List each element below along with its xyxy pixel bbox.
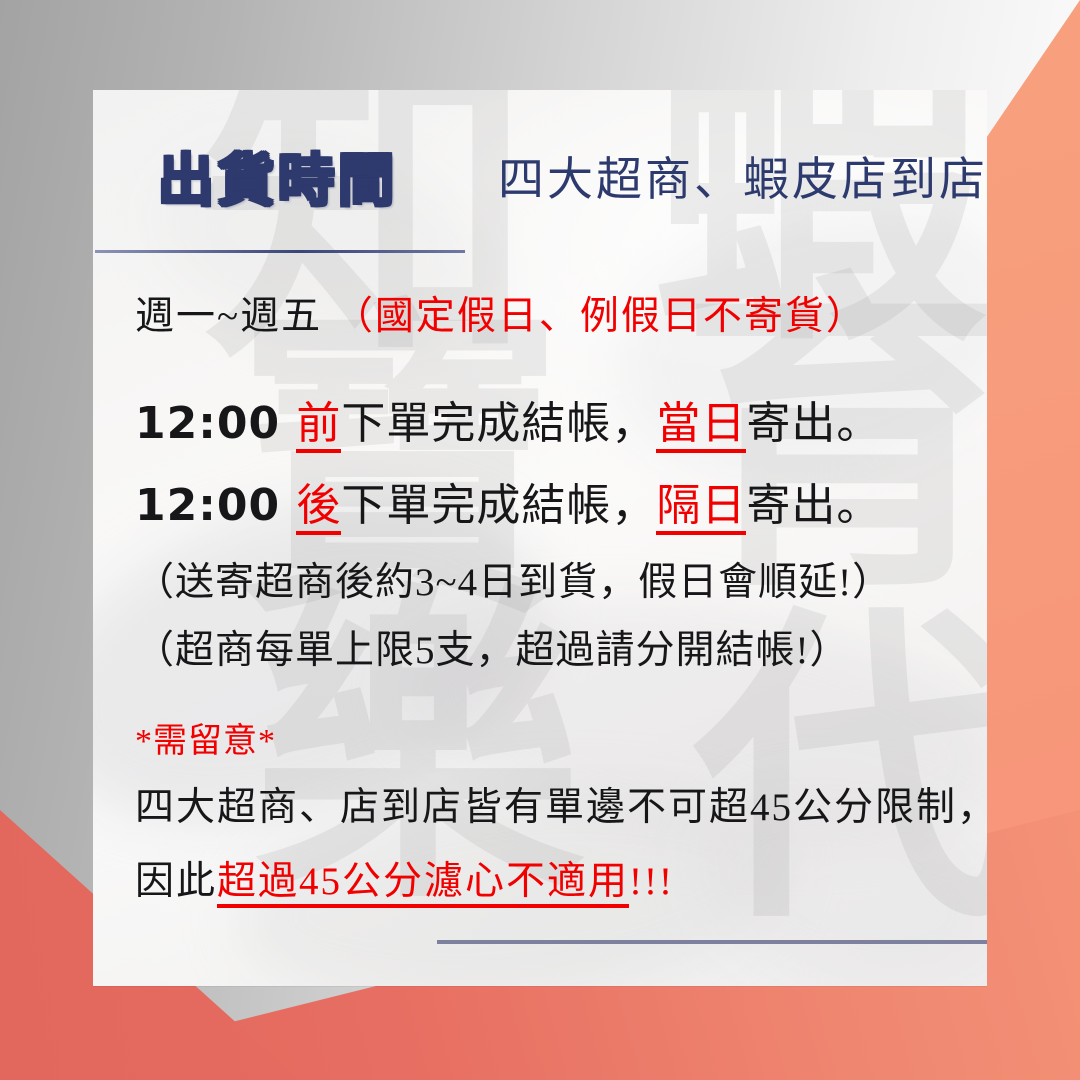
warning-heading: *需留意*	[135, 713, 955, 762]
cutoff-time-1: 12:00	[135, 398, 296, 449]
card-header: 出貨時間 四大超商、蝦皮店到店	[93, 90, 987, 260]
size-exclusion-highlight: 超過45公分濾心不適用	[217, 860, 629, 908]
cutoff-tail-1: 寄出。	[746, 399, 881, 448]
size-limit-line: 四大超商、店到店皆有單邊不可超45公分限制，	[135, 776, 955, 832]
cutoff-line-after: 12:00 後下單完成結帳，隔日寄出。	[135, 469, 955, 533]
size-exclusion-prefix: 因此	[135, 860, 217, 903]
cutoff-tail-2: 寄出。	[746, 481, 881, 530]
section-gap	[135, 687, 955, 713]
ship-same-day: 當日	[656, 399, 746, 453]
card-body: 週一~週五 （國定假日、例假日不寄貨） 12:00 前下單完成結帳，當日寄出。 …	[135, 285, 955, 986]
poster-canvas: 知 蝦 寶 育 樂 代 出貨時間 四大超商、蝦皮店到店 週一~週五 （國定假日、…	[0, 0, 1080, 1080]
cutoff-mid-2: 下單完成結帳，	[341, 481, 656, 530]
delivery-eta-note: （送寄超商後約3~4日到貨，假日會順延!）	[135, 551, 955, 607]
order-limit-note: （超商每單上限5支，超過請分開結帳!）	[135, 619, 955, 675]
agree-gap	[135, 924, 955, 986]
page-title: 出貨時間	[158, 136, 398, 217]
cutoff-line-before: 12:00 前下單完成結帳，當日寄出。	[135, 387, 955, 451]
header-divider	[95, 250, 465, 253]
weekday-highlight: （國定假日、例假日不寄貨）	[334, 295, 867, 338]
size-exclusion-bangs: !!!	[629, 860, 674, 903]
weekday-plain: 週一~週五	[135, 295, 334, 338]
cutoff-mid-1: 下單完成結帳，	[341, 399, 656, 448]
weekday-line: 週一~週五 （國定假日、例假日不寄貨）	[135, 285, 955, 341]
cutoff-mark-before: 前	[296, 399, 341, 453]
cutoff-time-2: 12:00	[135, 480, 296, 531]
cutoff-mark-after: 後	[296, 481, 341, 535]
size-exclusion-line: 因此超過45公分濾心不適用!!!	[135, 850, 955, 906]
info-card: 知 蝦 寶 育 樂 代 出貨時間 四大超商、蝦皮店到店 週一~週五 （國定假日、…	[93, 90, 987, 986]
footer-divider	[437, 940, 987, 944]
page-subtitle: 四大超商、蝦皮店到店	[498, 143, 987, 209]
ship-next-day: 隔日	[656, 481, 746, 535]
